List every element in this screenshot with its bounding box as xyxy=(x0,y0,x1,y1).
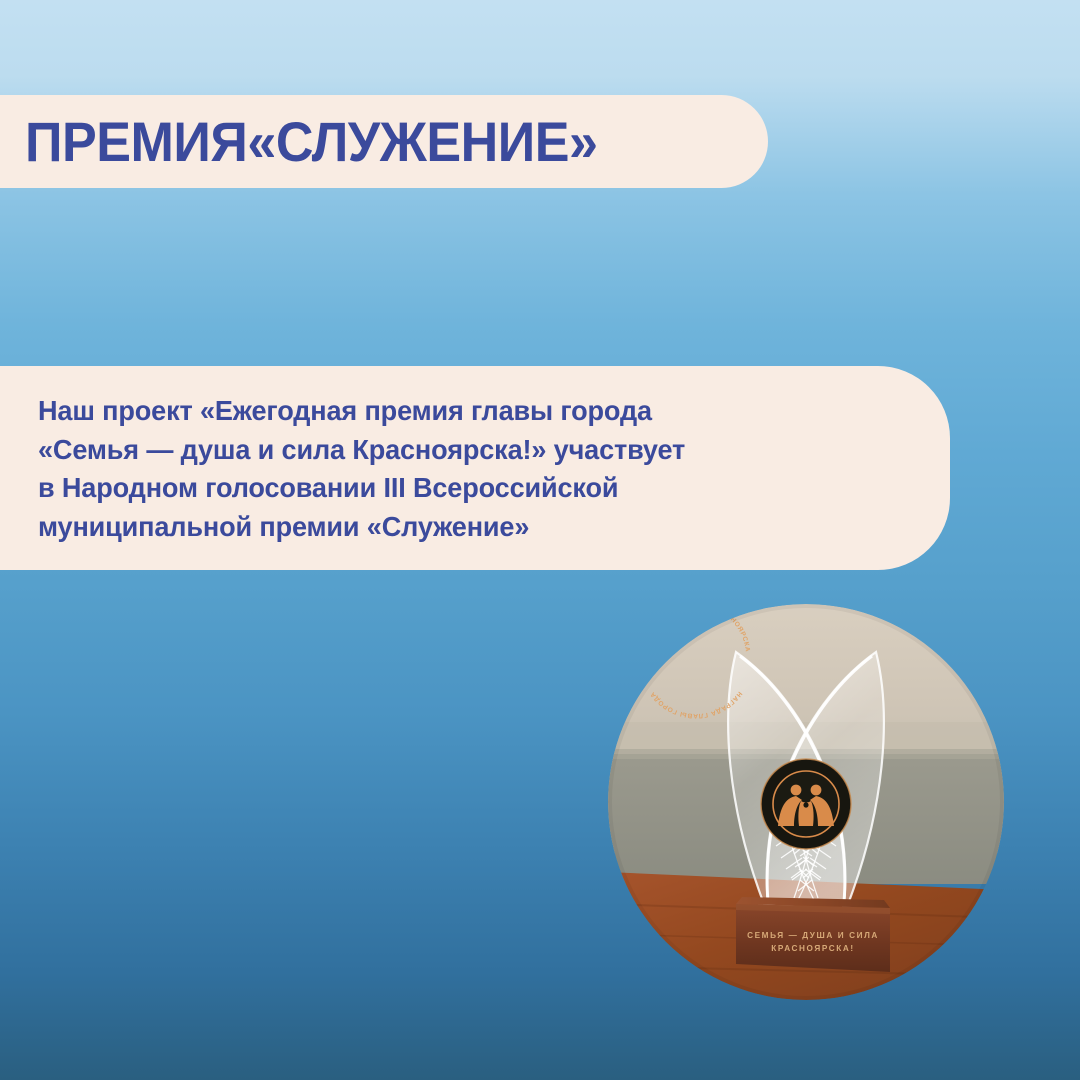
page-title: ПРЕМИЯ«СЛУЖЕНИЕ» xyxy=(25,114,597,170)
base-inscription-line2: КРАСНОЯРСКА! xyxy=(771,944,854,953)
description-banner: Наш проект «Ежегодная премия главы город… xyxy=(0,366,950,570)
trophy-photo: ВЫДАЮЩЕЙСЯ СЕМЬЕ КРАСНОЯРСКА НАГРАДА ГЛА… xyxy=(608,604,1004,1000)
base-inscription-line1: СЕМЬЯ — ДУША И СИЛА xyxy=(747,931,879,940)
description-text: Наш проект «Ежегодная премия главы город… xyxy=(38,392,936,546)
poster-canvas: ПРЕМИЯ«СЛУЖЕНИЕ» Наш проект «Ежегодная п… xyxy=(0,0,1080,1080)
trophy-photo-illustration: ВЫДАЮЩЕЙСЯ СЕМЬЕ КРАСНОЯРСКА НАГРАДА ГЛА… xyxy=(608,604,1004,1000)
title-banner: ПРЕМИЯ«СЛУЖЕНИЕ» xyxy=(0,95,768,188)
trophy-base: СЕМЬЯ — ДУША И СИЛА КРАСНОЯРСКА! xyxy=(736,897,890,972)
